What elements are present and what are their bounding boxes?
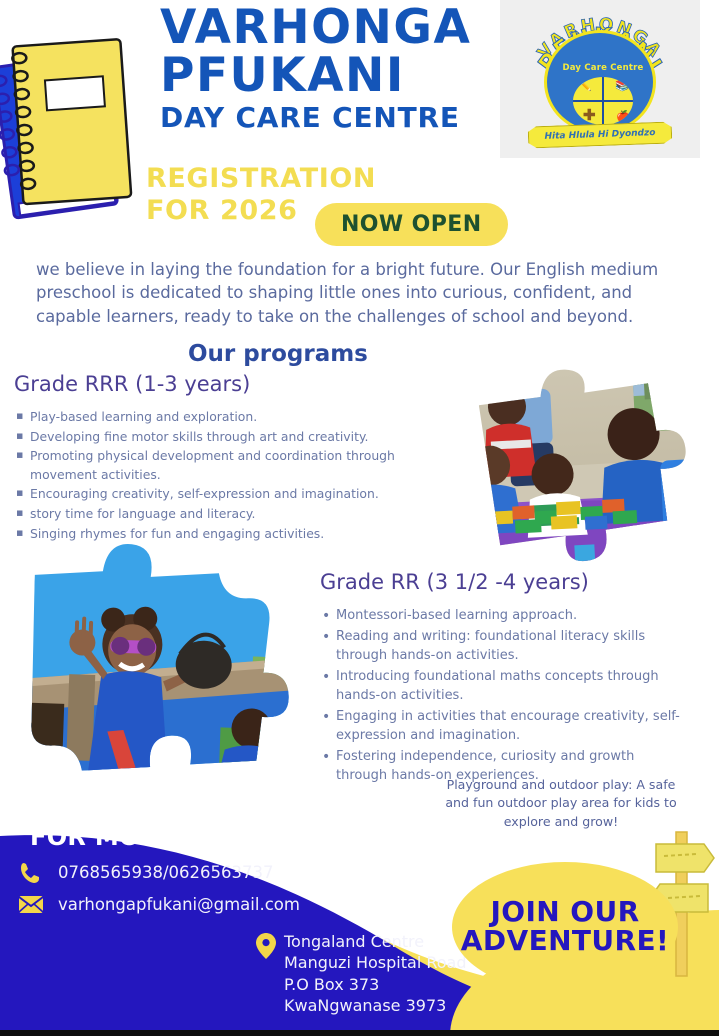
list-item: Promoting physical development and coord… (30, 447, 454, 484)
adventure-line-2: ADVENTURE! (461, 927, 669, 956)
logo-circle: Day Care Centre ✏️ 📚 ✚ 🍎 (544, 30, 656, 134)
list-item: Play-based learning and exploration. (30, 408, 454, 427)
now-open-badge: NOW OPEN (315, 203, 508, 246)
classroom-photo (446, 338, 713, 586)
phone-number: 0768565938/0626563737 (58, 863, 274, 882)
title-line-3: DAY CARE CENTRE (160, 100, 505, 135)
logo-panel: VARHONGA PFUKANI Day Care Centre ✏️ 📚 ✚ … (500, 0, 700, 158)
address-block: Tongaland Centre Manguzi Hospital Road P… (284, 931, 467, 1017)
intro-paragraph: we believe in laying the foundation for … (36, 258, 696, 328)
cross-icon: ✚ (583, 108, 596, 123)
title-line-1: VARHONGA (160, 4, 505, 52)
list-item: Encouraging creativity, self-expression … (30, 485, 454, 504)
grade-rr-title: Grade RR (3 1/2 -4 years) (320, 570, 680, 594)
notebooks-illustration (0, 18, 166, 228)
list-item: Developing fine motor skills through art… (30, 428, 454, 447)
logo-motto: Hita Hlula Hi Dyondzo (544, 128, 655, 142)
notebooks-icon (0, 18, 166, 228)
more-info-heading: FOR MORE INFO (30, 823, 251, 851)
address-line: Tongaland Centre (284, 931, 467, 952)
address-line: P.O Box 373 (284, 974, 467, 995)
classroom-photo-puzzle (446, 338, 713, 586)
list-item: Introducing foundational maths concepts … (336, 667, 680, 706)
programs-heading: Our programs (188, 341, 368, 367)
address-line: KwaNgwanase 3973 (284, 995, 467, 1016)
books-icon: 📚 (615, 81, 629, 92)
list-item: story time for language and literacy. (30, 505, 454, 524)
fruit-icon: 🍎 (616, 112, 630, 123)
address-line: Manguzi Hospital Road (284, 952, 467, 973)
program-grade-rrr: Grade RRR (1-3 years) Play-based learnin… (14, 372, 454, 544)
pencils-icon: ✏️ (579, 82, 591, 92)
join-adventure-badge[interactable]: JOIN OUR ADVENTURE! (452, 862, 678, 992)
page-title: VARHONGA PFUKANI DAY CARE CENTRE (160, 4, 505, 135)
logo-quad-hline (573, 100, 633, 102)
phone-icon (18, 861, 44, 883)
email-address: varhongapfukani@gmail.com (58, 895, 300, 914)
school-logo: VARHONGA PFUKANI Day Care Centre ✏️ 📚 ✚ … (522, 8, 678, 154)
bottom-bar (0, 1030, 719, 1036)
logo-quadrant-emblem: ✏️ 📚 ✚ 🍎 (573, 77, 633, 125)
adventure-line-1: JOIN OUR (490, 898, 639, 927)
envelope-icon (18, 893, 44, 915)
contact-phone[interactable]: 0768565938/0626563737 (18, 861, 274, 883)
grade-rrr-bullets: Play-based learning and exploration. Dev… (14, 408, 454, 543)
logo-subtitle: Day Care Centre (547, 63, 659, 73)
list-item: Montessori-based learning approach. (336, 606, 680, 626)
grade-rrr-title: Grade RRR (1-3 years) (14, 372, 454, 396)
registration-line-1: REGISTRATION (146, 163, 386, 195)
list-item: Reading and writing: foundational litera… (336, 627, 680, 666)
flyer-poster: VARHONGA PFUKANI Day Care Centre ✏️ 📚 ✚ … (0, 0, 719, 1036)
location-pin-icon (256, 933, 276, 959)
contact-email[interactable]: varhongapfukani@gmail.com (18, 893, 300, 915)
title-line-2: PFUKANI (160, 52, 505, 100)
